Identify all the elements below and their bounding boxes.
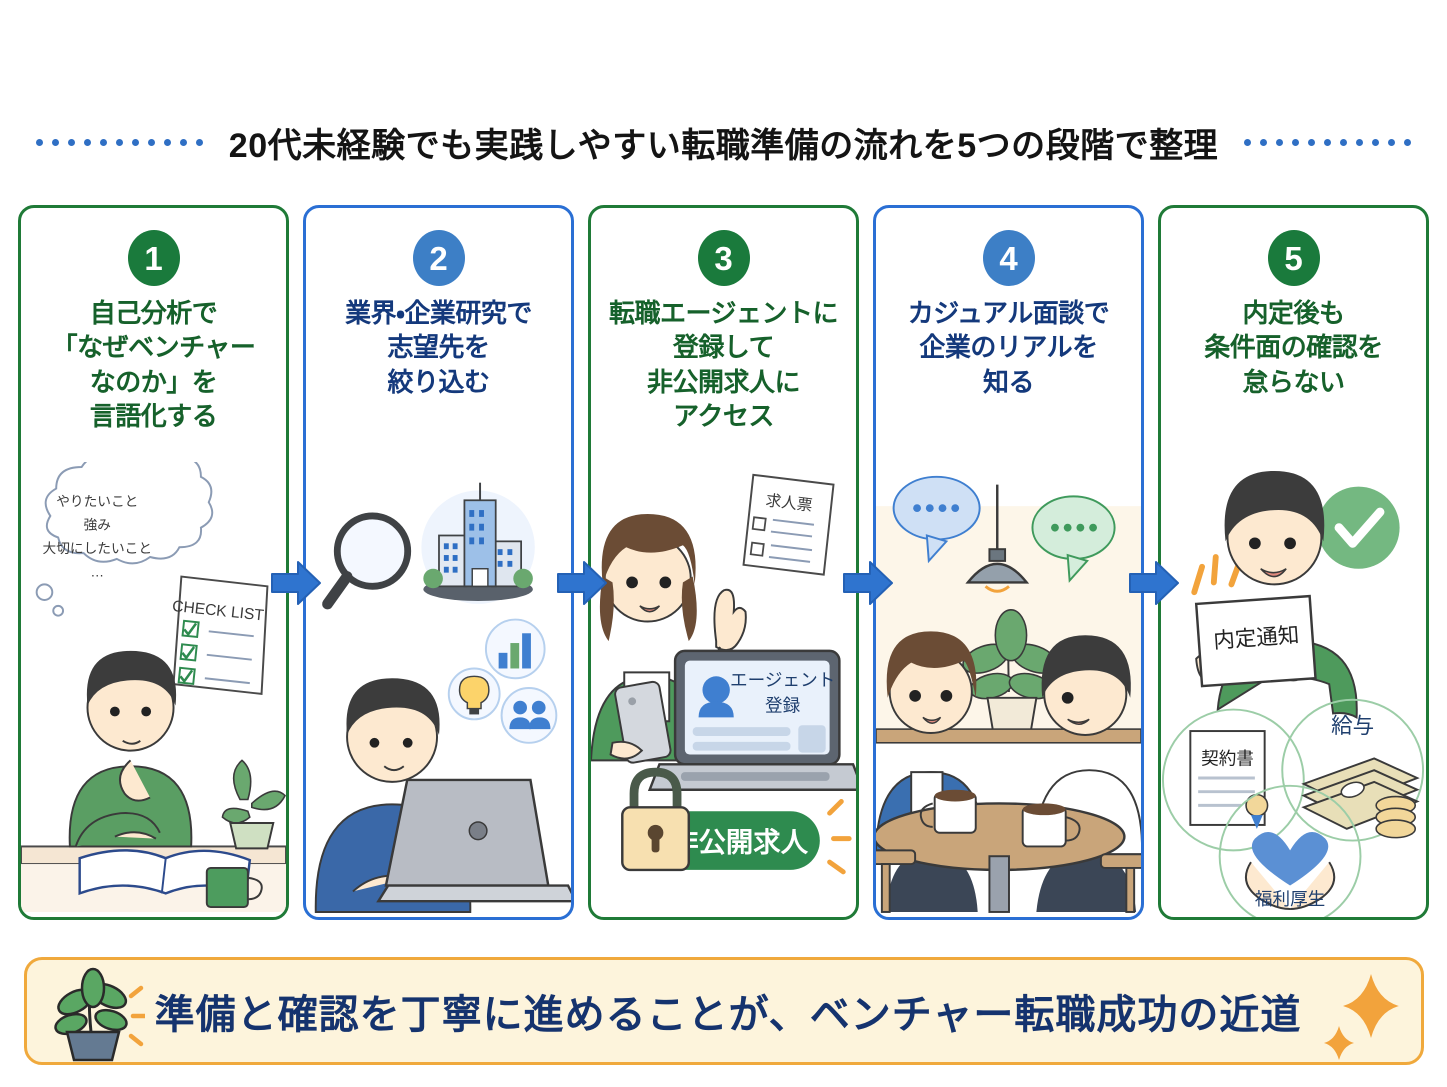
step-title-4: カジュアル面談で 企業のリアルを 知る (884, 296, 1133, 399)
step-title-2: 業界・企業研究で 志望先を 絞り込む (314, 296, 563, 399)
step-title-5: 内定後も 条件面の確認を 怠らない (1169, 296, 1418, 399)
svg-text:…: … (90, 565, 104, 580)
svg-text:福利厚生: 福利厚生 (1255, 889, 1325, 909)
man-illustration (1034, 635, 1141, 912)
laptop-icon: エージェント 登録 (650, 651, 856, 790)
arrow-right-icon-3 (842, 560, 894, 606)
step-illustration-3: 求人票 (591, 462, 856, 917)
header: 20代未経験でも実践しやすい転職準備の流れを5つの段階で整理 (0, 118, 1447, 167)
header-dots-left (36, 139, 203, 146)
checklist-paper-icon: CHECK LIST (171, 577, 267, 694)
people-icon (502, 688, 557, 743)
city-buildings-icon (421, 483, 534, 604)
sparkle-lines-icon (1194, 557, 1239, 592)
lightbulb-icon (449, 668, 500, 719)
svg-text:大切にしたいこと: 大切にしたいこと (43, 541, 153, 556)
arrow-right-icon-4 (1128, 560, 1180, 606)
footer-message: 準備と確認を丁寧に進めることが、ベンチャー転職成功の近道 (145, 982, 1311, 1040)
step-card-4[interactable]: 4 カジュアル面談で 企業のリアルを 知る (873, 205, 1144, 920)
arrow-right-icon-1 (270, 560, 322, 606)
step-card-2[interactable]: 2 業界・企業研究で 志望先を 絞り込む (303, 205, 574, 920)
svg-text:やりたいこと: やりたいこと (56, 494, 138, 509)
step-number-badge-5: 5 (1268, 230, 1320, 286)
footer-banner: 準備と確認を丁寧に進めることが、ベンチャー転職成功の近道 (24, 957, 1424, 1065)
infographic-page: 20代未経験でも実践しやすい転職準備の流れを5つの段階で整理 1 自己分析で 「… (0, 0, 1447, 1087)
step-illustration-4 (876, 462, 1141, 917)
step-title-3: 転職エージェントに 登録して 非公開求人に アクセス (599, 296, 848, 433)
step-illustration-1: やりたいこと 強み 大切にしたいこと … CHECK LIST (21, 462, 286, 917)
benefits-circle: 福利厚生 (1220, 786, 1361, 917)
person-illustration (70, 651, 192, 847)
sparkle-icon (1311, 960, 1421, 1062)
arrow-right-icon-2 (556, 560, 608, 606)
step-illustration-2 (306, 462, 571, 917)
step-number-badge-3: 3 (698, 230, 750, 286)
steps-row: 1 自己分析で 「なぜベンチャー なのか」を 言語化する やりたいこと 強み 大… (18, 205, 1430, 920)
check-circle-icon (1317, 487, 1399, 569)
step-illustration-5: 内定通知 契約書 給与 (1161, 462, 1426, 917)
potted-plant-icon (27, 960, 145, 1062)
svg-text:契約書: 契約書 (1201, 748, 1254, 768)
step-title-1: 自己分析で 「なぜベンチャー なのか」を 言語化する (29, 296, 278, 433)
svg-text:給与: 給与 (1331, 714, 1374, 738)
svg-text:登録: 登録 (765, 696, 801, 716)
page-title: 20代未経験でも実践しやすい転職準備の流れを5つの段階で整理 (229, 118, 1218, 167)
potted-plant-icon (222, 760, 285, 848)
bar-chart-icon (486, 620, 545, 679)
offer-letter-icon: 内定通知 (1196, 596, 1315, 686)
step-number-badge-4: 4 (983, 230, 1035, 286)
step-card-1[interactable]: 1 自己分析で 「なぜベンチャー なのか」を 言語化する やりたいこと 強み 大… (18, 205, 289, 920)
step-number-badge-1: 1 (128, 230, 180, 286)
svg-text:強み: 強み (84, 518, 111, 533)
step-card-5[interactable]: 5 内定後も 条件面の確認を 怠らない (1158, 205, 1429, 920)
money-icon (1304, 758, 1417, 837)
svg-text:非公開求人: 非公開求人 (671, 826, 809, 857)
job-posting-paper-icon: 求人票 (744, 475, 834, 575)
magnifier-icon (328, 516, 408, 604)
sparkle-lines-icon (830, 801, 850, 871)
step-number-badge-2: 2 (413, 230, 465, 286)
header-dots-right (1244, 139, 1411, 146)
svg-text:エージェント: エージェント (730, 670, 835, 690)
laptop-icon (378, 780, 571, 901)
step-card-3[interactable]: 3 転職エージェントに 登録して 非公開求人に アクセス 求人票 (588, 205, 859, 920)
